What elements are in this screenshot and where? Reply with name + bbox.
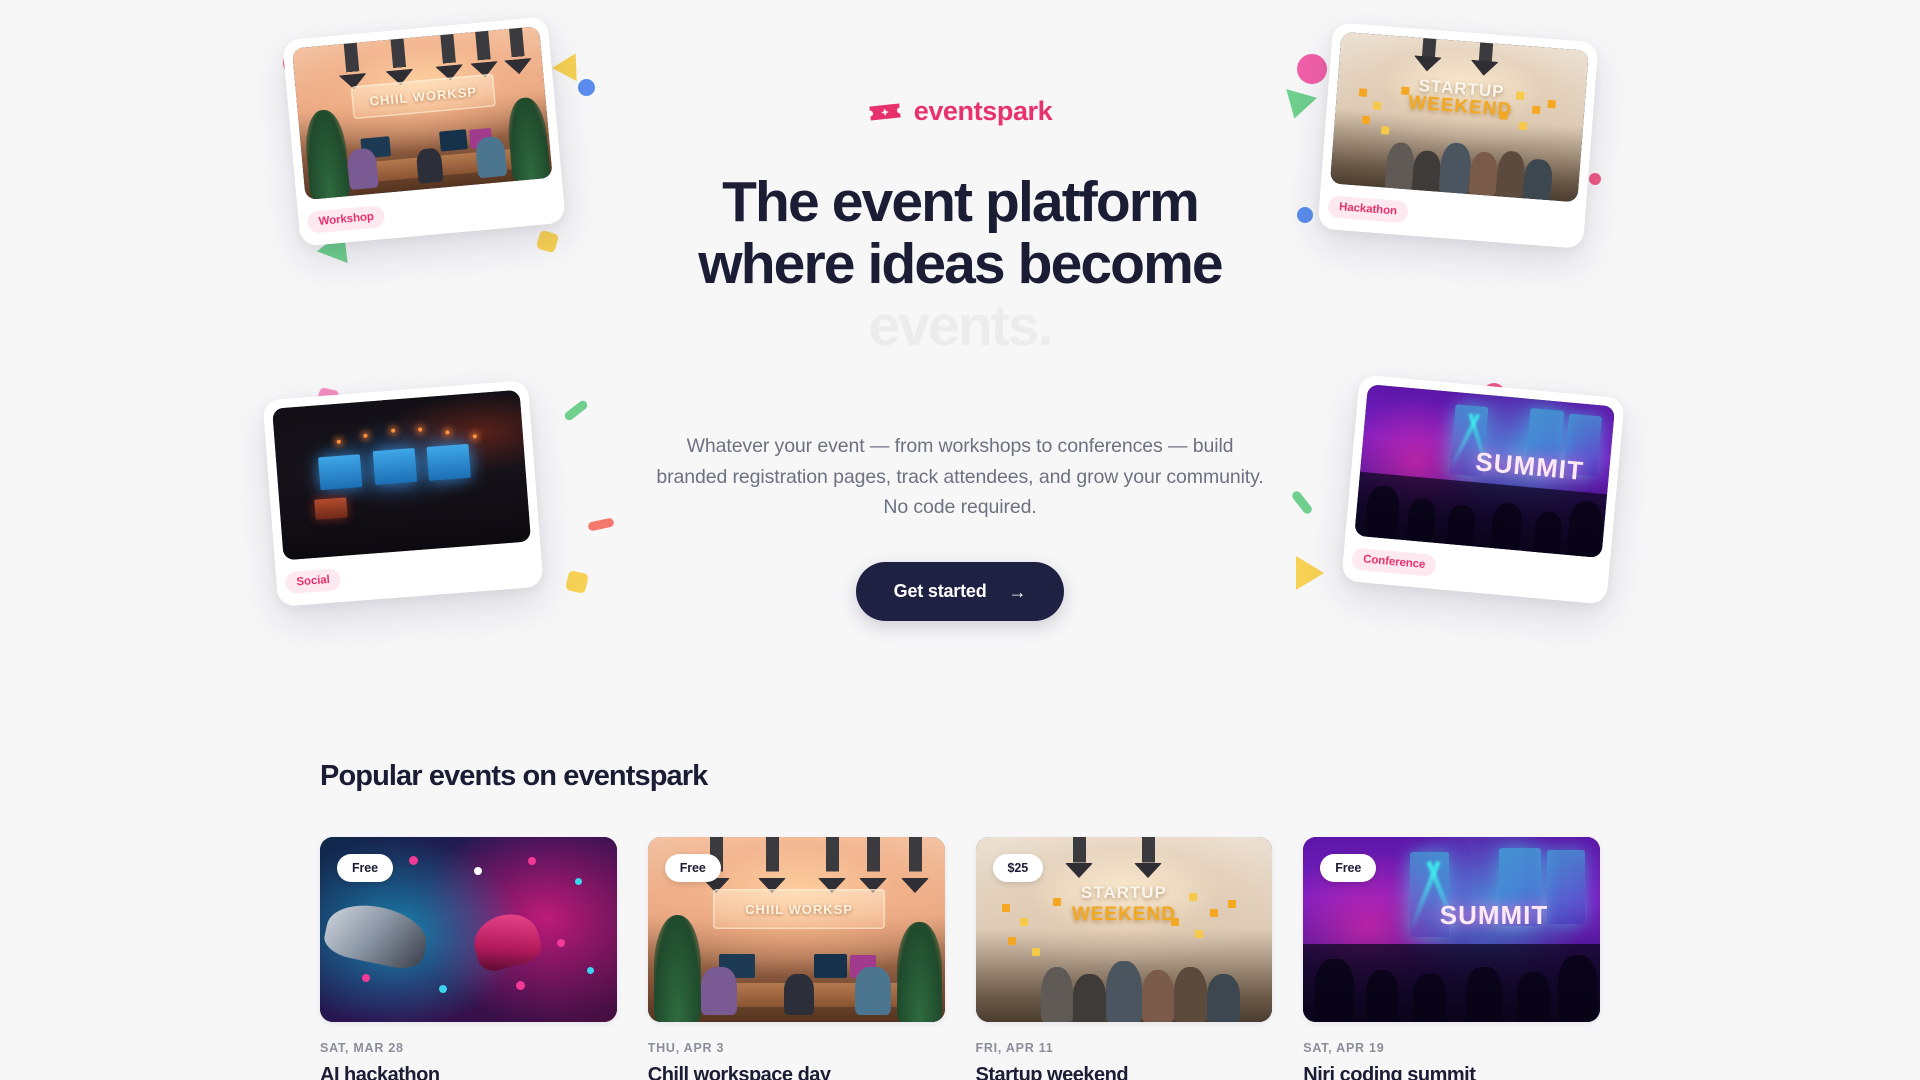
hero-card-image-social (272, 390, 531, 561)
ticket-icon (868, 101, 902, 123)
event-date: SAT, APR 19 (1303, 1041, 1600, 1055)
hero-card-image-conference: SUMMIT (1354, 384, 1615, 558)
hero-card-tag-conference: Conference (1351, 547, 1437, 577)
decor-bar-coral-mid (587, 517, 614, 531)
coworking-image: CHIIL WORKSP (292, 26, 553, 200)
event-card[interactable]: STARTUP WEEKEND (976, 837, 1273, 1080)
wall-sign-text: CHIIL WORKSP (713, 889, 885, 930)
event-price-badge: Free (665, 854, 721, 882)
decor-circle-blue-top (578, 79, 595, 96)
page-title: The event platform where ideas become ev… (650, 171, 1270, 357)
neon-summit-image: SUMMIT (1354, 384, 1615, 558)
hero-float-card-conference[interactable]: SUMMIT Conference (1341, 374, 1625, 604)
get-started-button[interactable]: Get started → (856, 562, 1065, 621)
decor-bar-green-right (1290, 489, 1313, 515)
decor-triangle-yellow-right (1296, 556, 1324, 590)
hero-section: CHIIL WORKSP Workshop (0, 0, 1920, 690)
decor-square-yellow-mid (565, 570, 589, 594)
event-title: Niri coding summit (1303, 1064, 1600, 1080)
decor-bar-green-mid (563, 399, 589, 422)
event-thumbnail: SUMMIT Free (1303, 837, 1600, 1022)
wall-sign-text: CHIIL WORKSP (350, 73, 496, 119)
event-price-badge: $25 (993, 854, 1044, 882)
event-date: FRI, APR 11 (976, 1041, 1273, 1055)
wall-word-weekend: WEEKEND (1072, 904, 1176, 926)
brand-name: eventspark (914, 96, 1053, 127)
get-started-label: Get started (894, 581, 987, 602)
event-thumbnail: Free (320, 837, 617, 1022)
section-title: Popular events on eventspark (320, 760, 1600, 793)
hero-float-card-workshop[interactable]: CHIIL WORKSP Workshop (282, 16, 566, 246)
event-thumbnail: CHIIL WORKSP Free (648, 837, 945, 1022)
startup-weekend-image: STARTUP WEEKEND (1330, 32, 1589, 203)
hero-card-image-workshop: CHIIL WORKSP (292, 26, 553, 200)
headline-line-1: The event platform (650, 171, 1270, 233)
headline-line-3: events. (650, 295, 1270, 357)
brand-logo[interactable]: eventspark (650, 96, 1270, 127)
decor-triangle-yellow-top (552, 47, 588, 81)
hero-card-tag-hackathon: Hackathon (1327, 195, 1408, 223)
dark-room-image (272, 390, 531, 561)
event-card[interactable]: CHIIL WORKSP Free T (648, 837, 945, 1080)
event-date: THU, APR 3 (648, 1041, 945, 1055)
decor-circle-pink-top-right (1297, 54, 1327, 84)
hero-card-image-hackathon: STARTUP WEEKEND (1330, 32, 1589, 203)
decor-triangle-green-right (1279, 89, 1317, 123)
hero-card-tag-social: Social (285, 568, 342, 594)
popular-events-section: Popular events on eventspark (0, 760, 1920, 1080)
hero-float-card-social[interactable]: Social (262, 380, 543, 607)
hero-subheadline: Whatever your event — from workshops to … (650, 431, 1270, 522)
hero-float-card-hackathon[interactable]: STARTUP WEEKEND (1317, 22, 1598, 249)
hero-content: eventspark The event platform where idea… (650, 96, 1270, 621)
event-card[interactable]: SUMMIT Free SAT, APR 19 Niri coding sum (1303, 837, 1600, 1080)
event-card[interactable]: Free SAT, MAR 28 AI hackathon (320, 837, 617, 1080)
event-date: SAT, MAR 28 (320, 1041, 617, 1055)
decor-dot-pink-right-edge (1589, 173, 1601, 185)
decor-square-yellow-left (536, 230, 560, 254)
stage-word-summit: SUMMIT (1440, 900, 1549, 931)
event-title: AI hackathon (320, 1064, 617, 1080)
hero-card-tag-workshop: Workshop (307, 205, 386, 234)
decor-circle-blue-right (1297, 207, 1313, 223)
events-grid: Free SAT, MAR 28 AI hackathon (320, 837, 1600, 1080)
event-price-badge: Free (1320, 854, 1376, 882)
landing-page: CHIIL WORKSP Workshop (0, 0, 1920, 1080)
arrow-right-icon: → (1009, 583, 1027, 601)
event-title: Chill workspace day (648, 1064, 945, 1080)
event-title: Startup weekend (976, 1064, 1273, 1080)
wall-word-startup: STARTUP (1081, 883, 1167, 903)
event-price-badge: Free (337, 854, 393, 882)
headline-line-2: where ideas become (650, 233, 1270, 295)
event-thumbnail: STARTUP WEEKEND (976, 837, 1273, 1022)
